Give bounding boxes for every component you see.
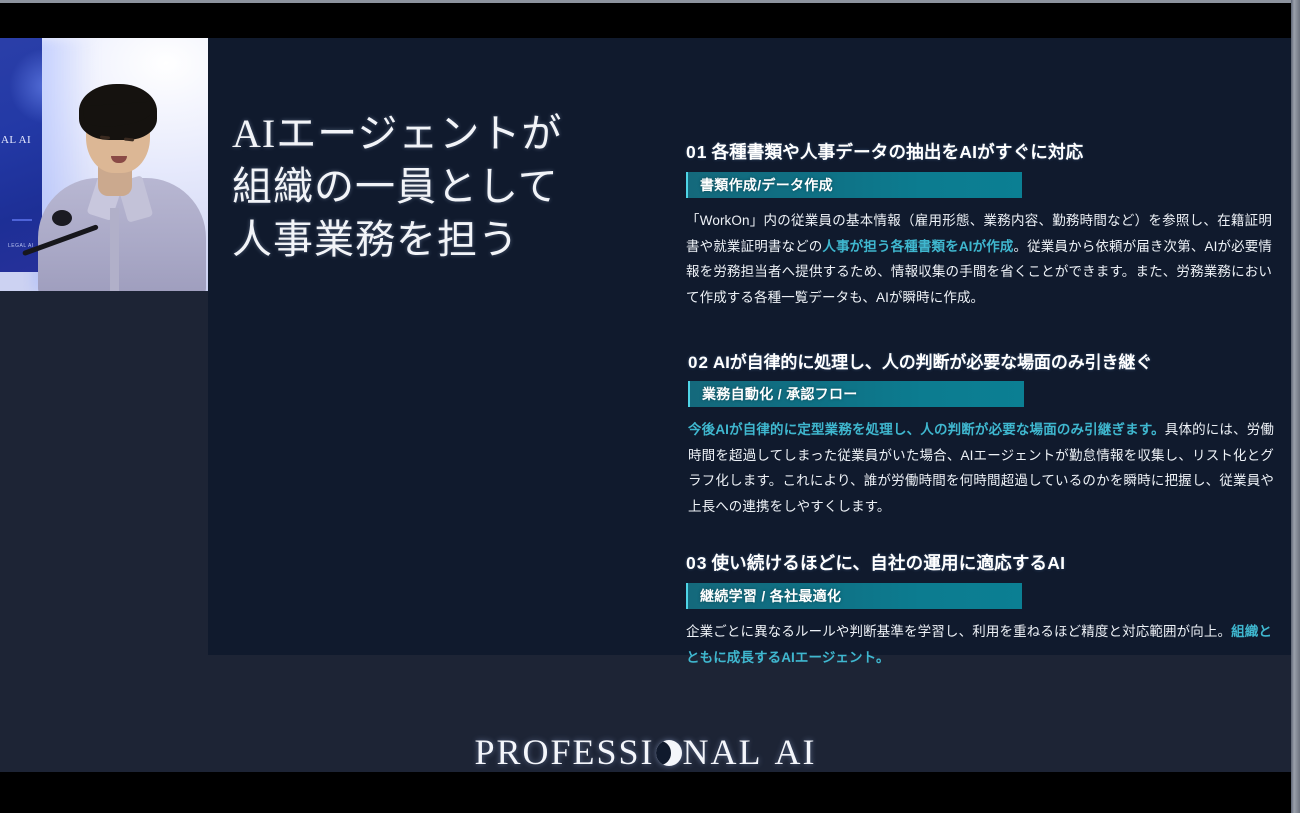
section-03-heading-text: 使い続けるほどに、自社の運用に適応するAI [711,553,1065,573]
brand-wordmark: PROFESSI NAL AI [474,731,816,773]
section-02-body: 今後AIが自律的に定型業務を処理し、人の判断が必要な場面のみ引継ぎます。具体的に… [688,417,1274,519]
brand-part-2: NAL [683,731,763,773]
presentation-stage: AL AI LEGAL AI AIエージェントが 組織の一員として 人事業務を担… [0,38,1291,772]
section-01-heading: 01各種書類や人事データの抽出をAIがすぐに対応 [686,139,1272,164]
section-02: 02AIが自律的に処理し、人の判断が必要な場面のみ引き継ぐ 業務自動化 / 承認… [688,348,1274,519]
presenter-figure [0,38,208,291]
section-01-heading-text: 各種書類や人事データの抽出をAIがすぐに対応 [711,142,1083,162]
letterbox-top [0,3,1291,38]
section-03-body: 企業ごとに異なるルールや判断基準を学習し、利用を重ねるほど精度と対応範囲が向上。… [686,619,1272,670]
section-03-body-lead: 企業ごとに異なるルールや判断基準を学習し、利用を重ねるほど精度と対応範囲が向上。 [686,624,1231,639]
brand-part-1: PROFESSI [474,731,654,773]
section-01-body: 「WorkOn」内の従業員の基本情報（雇用形態、業務内容、勤務時間など）を参照し… [686,208,1272,310]
section-03-badge: 継続学習 / 各社最適化 [686,583,1022,609]
section-01-number: 01 [686,142,707,162]
shirt-placket [110,208,119,291]
section-02-badge: 業務自動化 / 承認フロー [688,381,1024,407]
section-02-heading-text: AIが自律的に処理し、人の判断が必要な場面のみ引き継ぐ [713,353,1152,372]
screen-share-window: AL AI LEGAL AI AIエージェントが 組織の一員として 人事業務を担… [0,0,1300,813]
brand-part-3: AI [775,731,817,773]
section-01: 01各種書類や人事データの抽出をAIがすぐに対応 書類作成/データ作成 「Wor… [686,139,1272,310]
section-01-body-highlight: 人事が担う各種書類をAIが作成 [822,239,1013,254]
presenter-webcam[interactable]: AL AI LEGAL AI [0,38,208,291]
section-02-body-highlight: 今後AIが自律的に定型業務を処理し、人の判断が必要な場面のみ引継ぎます。 [688,422,1165,437]
crescent-circle-o-icon [656,740,682,766]
slide-title: AIエージェントが 組織の一員として 人事業務を担う [232,107,662,266]
window-right-border [1291,0,1300,813]
section-02-number: 02 [688,353,709,372]
section-03-heading: 03使い続けるほどに、自社の運用に適応するAI [686,550,1272,575]
brand-footer: PROFESSI NAL AI [0,693,1291,810]
section-03: 03使い続けるほどに、自社の運用に適応するAI 継続学習 / 各社最適化 企業ご… [686,550,1272,670]
section-02-heading: 02AIが自律的に処理し、人の判断が必要な場面のみ引き継ぐ [688,348,1274,373]
section-01-badge: 書類作成/データ作成 [686,172,1022,198]
microphone-icon [52,210,72,226]
section-03-number: 03 [686,553,707,573]
